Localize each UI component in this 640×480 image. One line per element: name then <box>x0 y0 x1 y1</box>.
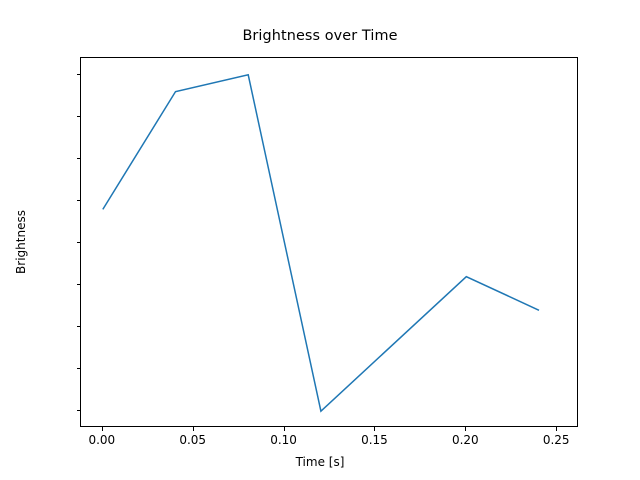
x-axis-tick-label: 0.10 <box>270 433 297 447</box>
x-axis-tick-label: 0.05 <box>179 433 206 447</box>
plot-area <box>80 57 578 427</box>
x-axis-tick-label: 0.15 <box>361 433 388 447</box>
chart-title: Brightness over Time <box>0 28 640 44</box>
brightness-line <box>103 75 539 411</box>
x-axis-tick-label: 0.25 <box>543 433 570 447</box>
chart-figure: Brightness over Time Brightness 145.0147… <box>0 0 640 480</box>
x-axis-tick-label: 0.00 <box>88 433 115 447</box>
y-axis-label: Brightness <box>14 57 28 427</box>
x-axis-tick-label: 0.20 <box>452 433 479 447</box>
x-axis-label: Time [s] <box>0 455 640 469</box>
data-line-svg <box>81 58 579 428</box>
